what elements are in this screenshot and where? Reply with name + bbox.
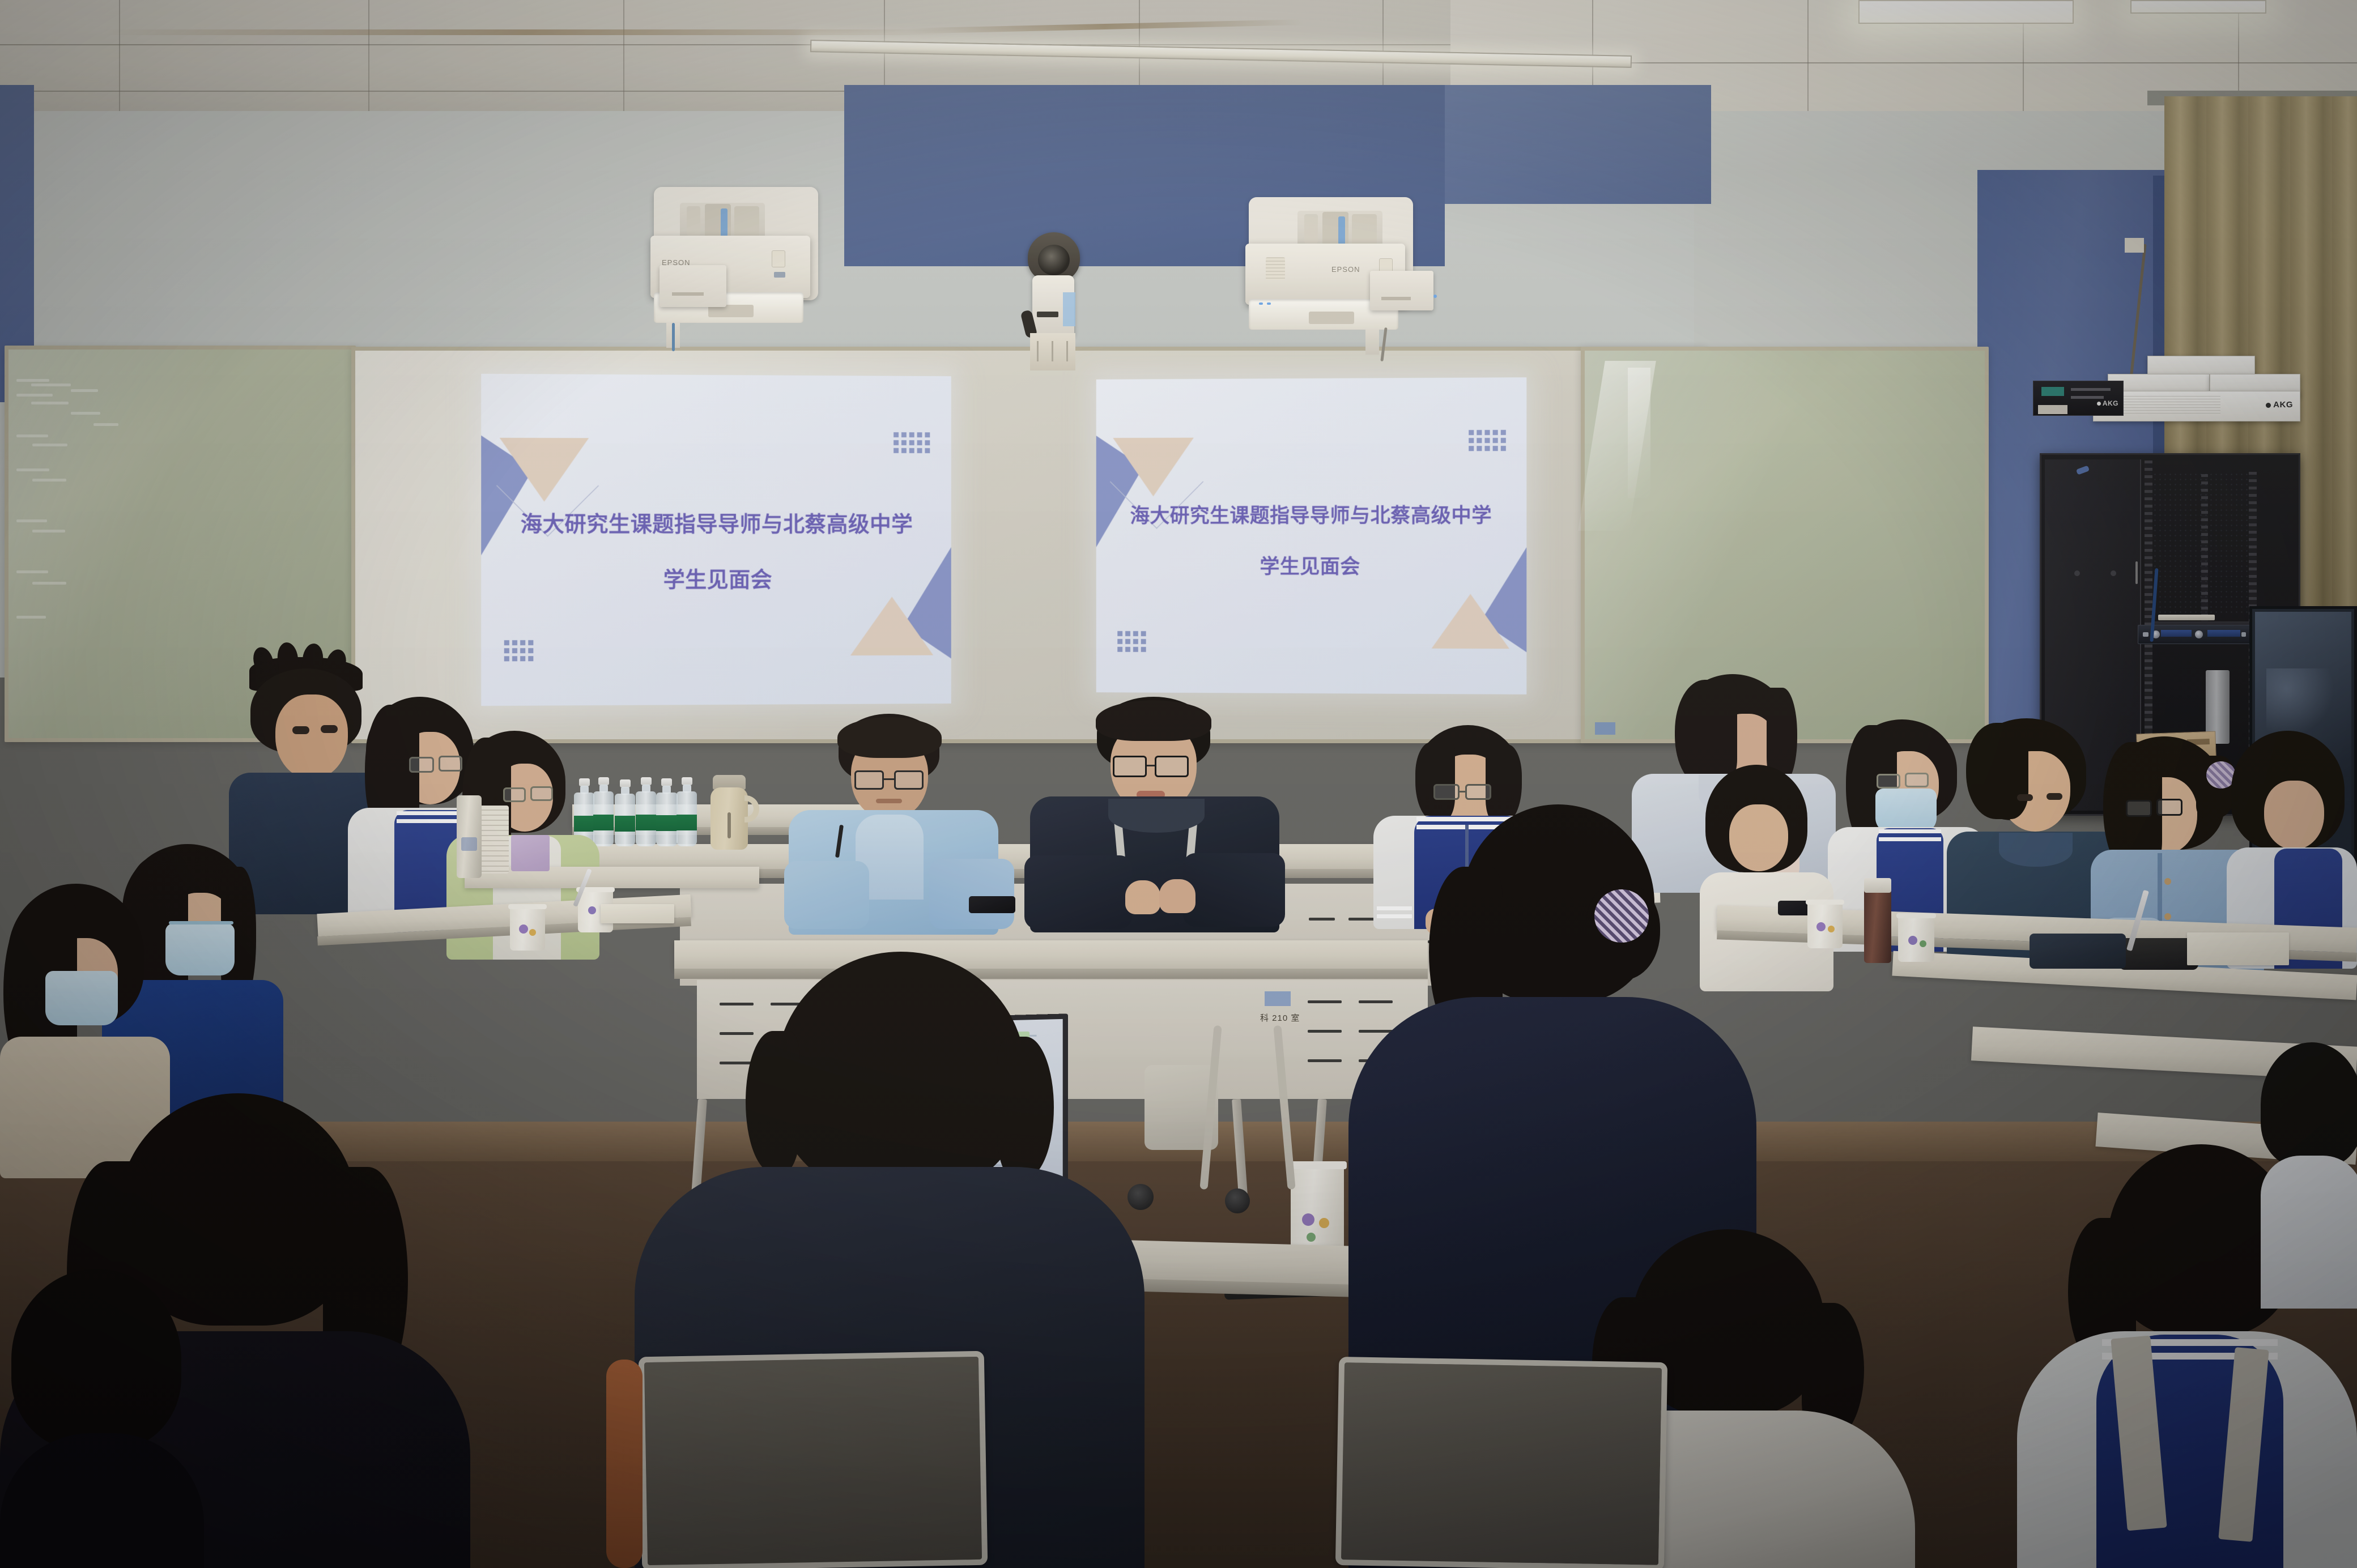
projector-brand-right: EPSON [1331, 265, 1360, 274]
face-mask-left [165, 923, 235, 975]
akg-label-small: AKG [2103, 399, 2118, 407]
brown-tumbler [1864, 878, 1891, 963]
speaker-hand-right [1159, 879, 1195, 913]
tablet-right[interactable] [2030, 934, 2126, 969]
monitor-reflection [2266, 668, 2334, 736]
thermal-carafe [703, 775, 765, 849]
water-bottle-4 [636, 777, 656, 846]
slide-dotgrid-bl [504, 640, 534, 661]
projector-junction-box-left [660, 265, 726, 307]
ponytail-scrunchie [1594, 889, 1649, 943]
water-bottle-6 [677, 777, 697, 846]
table-caster-1 [1225, 1188, 1250, 1213]
phone-on-table-1[interactable] [969, 896, 1015, 913]
projector-junction-box-right [1370, 271, 1433, 310]
speaker-hand-left [1125, 880, 1160, 914]
ceiling-light-panel-2 [2130, 0, 2266, 14]
slide2-dotgrid-tr [1469, 430, 1506, 451]
akg-box-front: AKG [2093, 391, 2300, 421]
chair-arm-left[interactable] [606, 1360, 643, 1568]
rack-top-device[interactable]: AKG [2033, 381, 2124, 416]
chair-foreground-left[interactable] [639, 1351, 988, 1568]
slide2-title-line2: 学生见面会 [1096, 551, 1527, 580]
akg-label-front: AKG [2273, 400, 2293, 410]
slide2-dotgrid-bl [1117, 631, 1146, 652]
paper-cup-right-2 [1898, 913, 1934, 962]
person-speaker-dark-jacket [1020, 697, 1292, 923]
water-bottle-3 [615, 779, 635, 846]
projection-screen-right: 海大研究生课题指导导师与北蔡高级中学 学生见面会 [1096, 377, 1527, 694]
room-number-label: 科 210 室 [1260, 1012, 1300, 1024]
ptz-camera[interactable] [1020, 232, 1094, 354]
rack-mesh [2152, 472, 2248, 613]
classroom-photo: 海大研究生课题指导导师与北蔡高级中学 学生见面会 海大研究生课题指导导师与北蔡高… [0, 0, 2357, 1568]
paper-cup-foreground [1291, 1161, 1344, 1258]
chair-foreground-right[interactable] [1335, 1357, 1667, 1568]
person-foreground-far-left [0, 1269, 204, 1568]
paper-cup-right-1 [1807, 900, 1843, 948]
left-table-top-2 [465, 867, 759, 888]
slide-title-line2: 学生见面会 [481, 562, 951, 594]
water-bottle-5 [656, 778, 678, 846]
rack-audio-processor[interactable] [2138, 625, 2251, 644]
slide-dotgrid-tr [894, 432, 930, 453]
person-teacher-blue-shirt [765, 714, 1026, 918]
slide2-title-line1: 海大研究生课题指导导师与北蔡高级中学 [1096, 500, 1527, 529]
notebook-right [2187, 932, 2289, 965]
ceiling-light-panel [1858, 0, 2074, 24]
tissue-pack [511, 835, 550, 871]
tumbler-bottle [457, 795, 482, 878]
paper-cup-left-1 [510, 904, 545, 951]
projector-left: EPSON [646, 187, 827, 340]
slide-decor-triangle-beige-br [850, 596, 933, 655]
projection-screen-left: 海大研究生课题指导导师与北蔡高级中学 学生见面会 [481, 374, 951, 706]
wall-acoustic-band-2 [1445, 85, 1711, 204]
person-right-edge-seated [2261, 1042, 2357, 1314]
slide-title-line1: 海大研究生课题指导导师与北蔡高级中学 [481, 506, 951, 538]
wall-outlet[interactable] [2125, 238, 2144, 253]
notebook-left [601, 904, 674, 923]
slide2-decor-triangle-beige-br [1432, 594, 1509, 649]
paper-cup-stack [477, 806, 509, 874]
rack-paper [2158, 615, 2215, 620]
